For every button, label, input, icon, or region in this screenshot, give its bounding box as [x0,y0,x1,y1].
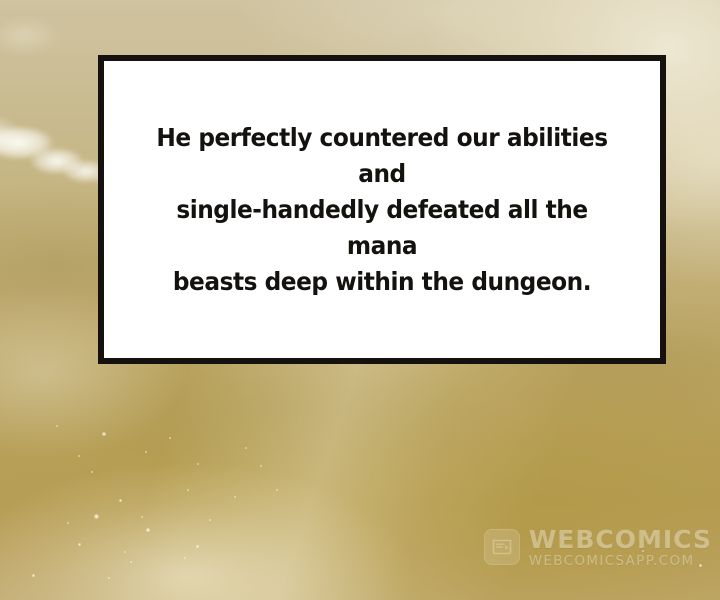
caption-text: He perfectly countered our abilities and… [123,120,640,300]
sparkle-particle [234,496,236,498]
watermark-title: WEBCOMICS [529,527,712,552]
watermark: WEBCOMICS WEBCOMICSAPP.COM [484,527,712,569]
caption-box: He perfectly countered our abilities and… [98,55,666,364]
sparkle-particle [67,522,69,524]
sparkle-particle [124,551,126,553]
webcomics-logo-icon [484,529,520,565]
sparkle-particle [145,451,147,453]
sparkle-particle [32,574,35,577]
sparkle-particle [699,564,702,567]
comic-panel: He perfectly countered our abilities and… [0,0,720,600]
sparkle-particle [91,471,93,473]
sparkle-particle [78,543,81,546]
sparkle-particle [94,514,99,519]
sparkle-particle [642,550,644,552]
sparkle-particle [197,463,199,465]
sparkle-particle [119,499,122,502]
sparkle-particle [187,489,189,491]
sparkle-particle [245,447,247,449]
sparkle-particle [260,465,262,467]
sparkle-particle [102,432,106,436]
watermark-subtitle: WEBCOMICSAPP.COM [529,555,712,569]
sparkle-particle [108,577,110,579]
sparkle-particle [196,545,199,548]
sparkle-particle [169,437,171,439]
sparkle-particle [209,519,211,521]
sparkle-particle [141,516,143,518]
sparkle-particle [130,561,132,563]
sparkle-particle [184,557,186,559]
watermark-words: WEBCOMICS WEBCOMICSAPP.COM [529,527,712,569]
sparkle-particle [276,489,278,491]
sparkle-particle [146,528,150,532]
sparkle-particle [56,425,58,427]
sparkle-particle [78,455,80,457]
